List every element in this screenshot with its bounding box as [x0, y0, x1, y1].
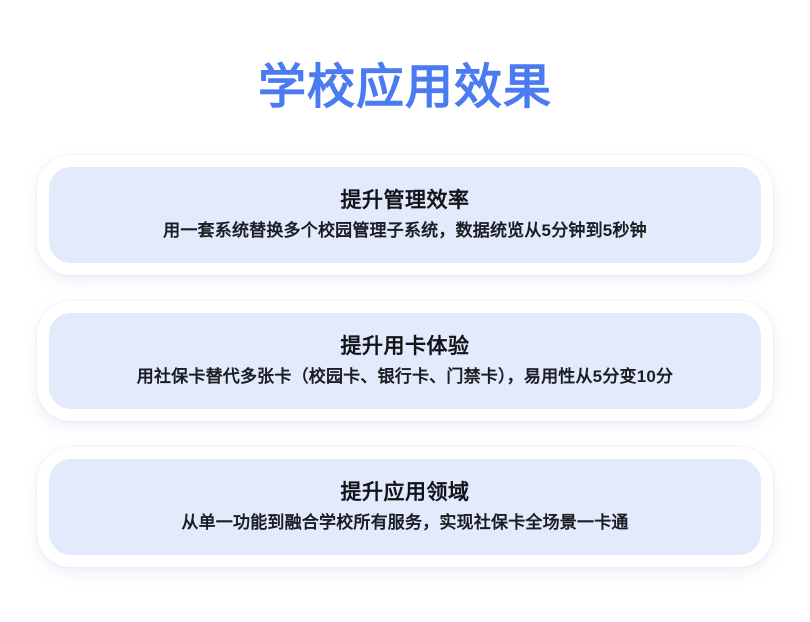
benefit-card-title: 提升用卡体验 — [341, 333, 470, 361]
benefit-card: 提升应用领域 从单一功能到融合学校所有服务，实现社保卡全场景一卡通 — [37, 447, 773, 567]
page-root: 学校应用效果 提升管理效率 用一套系统替换多个校园管理子系统，数据统览从5分钟到… — [0, 0, 810, 622]
benefit-card-title: 提升管理效率 — [341, 187, 470, 215]
benefit-card: 提升用卡体验 用社保卡替代多张卡（校园卡、银行卡、门禁卡），易用性从5分变10分 — [37, 301, 773, 421]
benefit-card-list: 提升管理效率 用一套系统替换多个校园管理子系统，数据统览从5分钟到5秒钟 提升用… — [0, 155, 810, 567]
benefit-card-title: 提升应用领域 — [341, 479, 470, 507]
benefit-card-description: 用一套系统替换多个校园管理子系统，数据统览从5分钟到5秒钟 — [163, 218, 647, 244]
page-title: 学校应用效果 — [0, 60, 810, 116]
benefit-card: 提升管理效率 用一套系统替换多个校园管理子系统，数据统览从5分钟到5秒钟 — [37, 155, 773, 275]
benefit-card-description: 从单一功能到融合学校所有服务，实现社保卡全场景一卡通 — [181, 510, 628, 536]
benefit-card-description: 用社保卡替代多张卡（校园卡、银行卡、门禁卡），易用性从5分变10分 — [137, 364, 673, 390]
